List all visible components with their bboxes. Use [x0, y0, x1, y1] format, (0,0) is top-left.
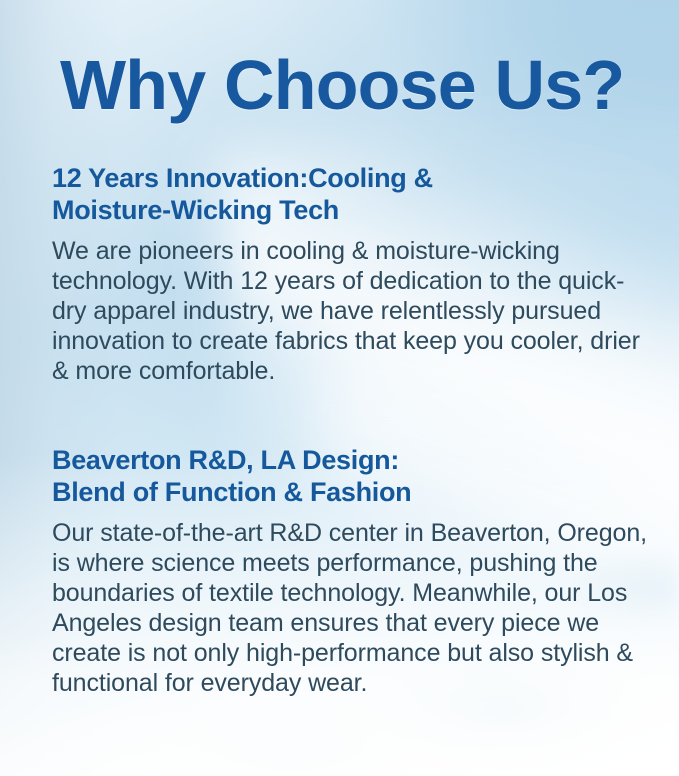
page-title: Why Choose Us? [60, 47, 624, 123]
section-heading-line: 12 Years Innovation:Cooling & [52, 162, 652, 194]
section-heading-line: Beaverton R&D, LA Design: [52, 444, 652, 476]
section-innovation: 12 Years Innovation:Cooling & Moisture-W… [52, 162, 652, 386]
why-choose-us-banner: Why Choose Us? 12 Years Innovation:Cooli… [0, 0, 679, 776]
section-heading-line: Blend of Function & Fashion [52, 476, 652, 508]
section-heading-line: Moisture-Wicking Tech [52, 194, 652, 226]
section-body-text: We are pioneers in cooling & moisture-wi… [52, 236, 652, 386]
content-area: Why Choose Us? 12 Years Innovation:Cooli… [0, 0, 679, 776]
section-body-text: Our state-of-the-art R&D center in Beave… [52, 518, 652, 698]
section-rd-design: Beaverton R&D, LA Design: Blend of Funct… [52, 444, 652, 698]
sections-list: 12 Years Innovation:Cooling & Moisture-W… [52, 162, 652, 698]
section-heading: 12 Years Innovation:Cooling & Moisture-W… [52, 162, 652, 226]
section-heading: Beaverton R&D, LA Design: Blend of Funct… [52, 444, 652, 508]
